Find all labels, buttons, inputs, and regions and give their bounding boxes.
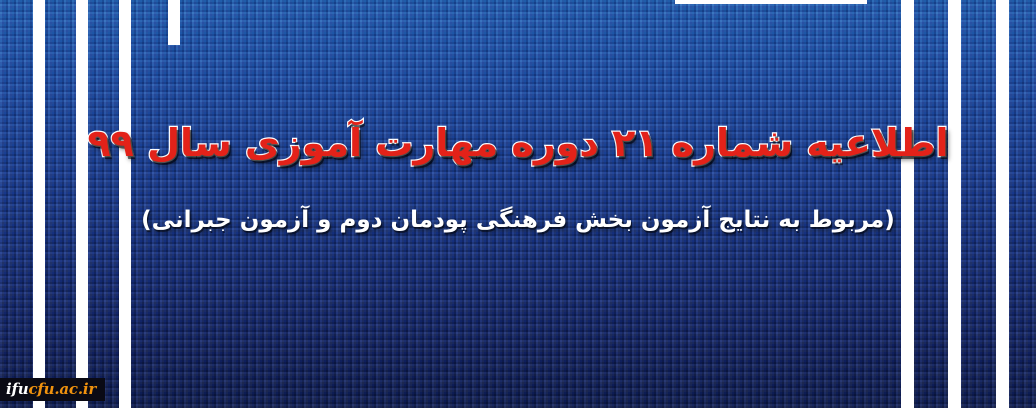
watermark-prefix: ifu [6,382,28,397]
banner-subheadline: (مربوط به نتایج آزمون بخش فرهنگی پودمان … [40,203,996,238]
banner-headline: اطلاعیه شماره ۲۱ دوره مهارت آموزی سال ۹۹ [40,118,996,169]
decorative-stripe-left-4-short [168,0,180,45]
decorative-stripe-top-horizontal [675,0,867,4]
site-watermark: ifu cfu.ac.ir [0,378,105,401]
banner-text-block: اطلاعیه شماره ۲۱ دوره مهارت آموزی سال ۹۹… [0,118,1036,238]
announcement-banner: اطلاعیه شماره ۲۱ دوره مهارت آموزی سال ۹۹… [0,0,1036,408]
watermark-domain: cfu.ac.ir [28,382,96,397]
